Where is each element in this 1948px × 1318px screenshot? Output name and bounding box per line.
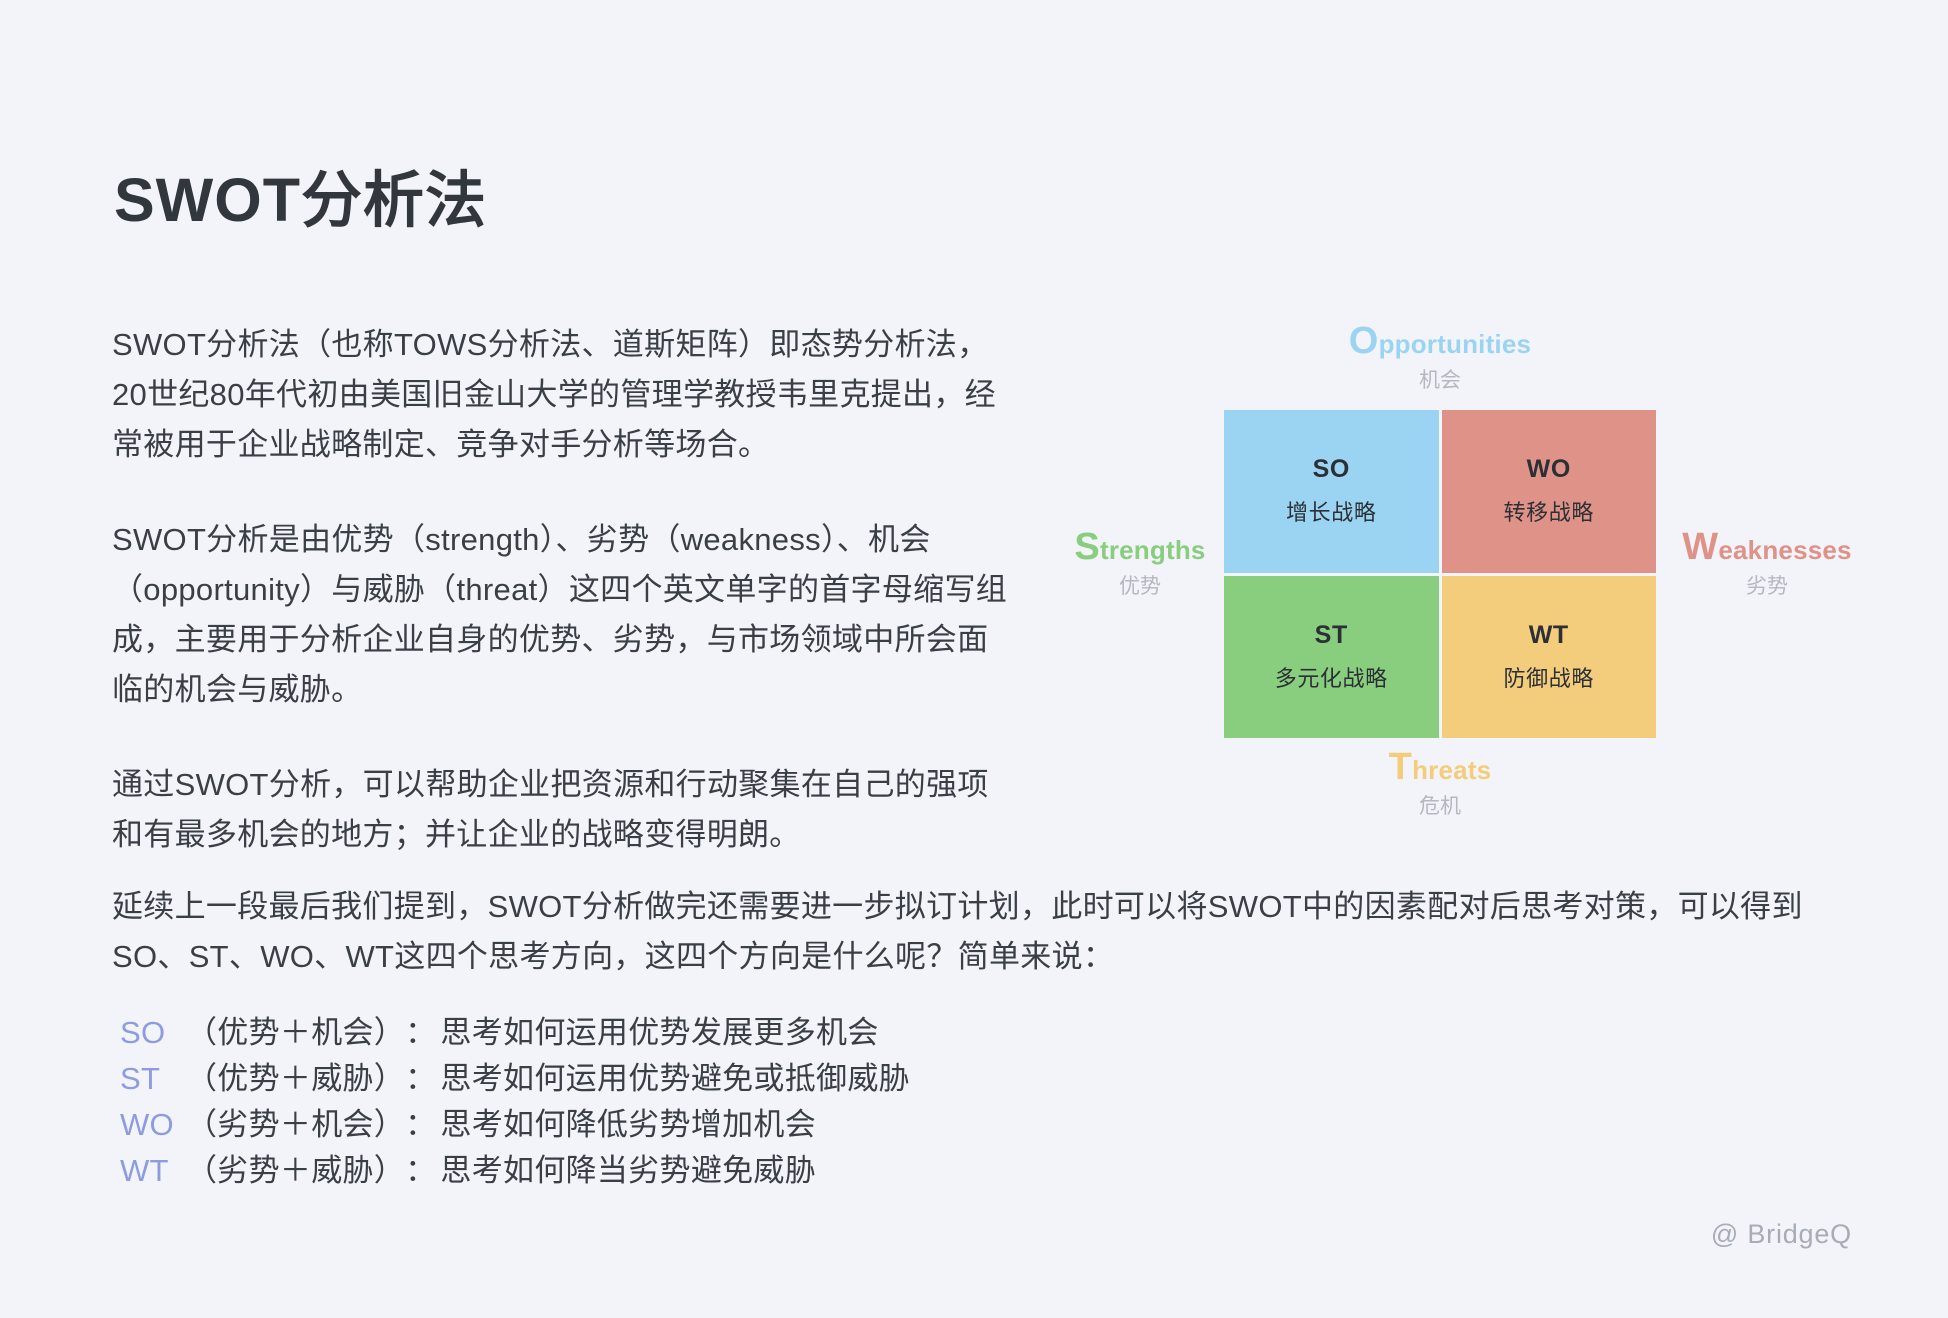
- axis-rest-threats: hreats: [1412, 755, 1491, 785]
- matrix-cell-wt-label: 防御战略: [1504, 661, 1594, 693]
- pair-combo-wt: （劣势＋威胁）: [186, 1148, 405, 1194]
- axis-rest-opportunities: pportunities: [1379, 329, 1532, 359]
- axis-label-threats: Threats 危机: [1295, 748, 1585, 820]
- paragraph-3: 通过SWOT分析，可以帮助企业把资源和行动聚集在自己的强项和有最多机会的地方；并…: [112, 760, 1012, 860]
- matrix-cell-st: ST 多元化战略: [1224, 576, 1439, 739]
- page-title: SWOT分析法: [114, 164, 487, 237]
- axis-rest-strengths: trengths: [1100, 535, 1206, 565]
- axis-initial-t: T: [1389, 746, 1412, 788]
- axis-label-opportunities-cn: 机会: [1295, 364, 1585, 394]
- matrix-cell-wt-code: WT: [1529, 621, 1569, 650]
- list-item: WT （劣势＋威胁） ： 思考如何降当劣势避免威胁: [120, 1148, 1220, 1194]
- matrix-cell-st-label: 多元化战略: [1275, 661, 1388, 693]
- pair-desc-wo: 思考如何降低劣势增加机会: [440, 1102, 816, 1148]
- axis-label-weaknesses-cn: 劣势: [1652, 570, 1882, 600]
- paragraph-1: SWOT分析法（也称TOWS分析法、道斯矩阵）即态势分析法，20世纪80年代初由…: [112, 320, 1012, 471]
- matrix-cell-so-label: 增长战略: [1286, 495, 1376, 527]
- pair-colon-wt: ：: [405, 1148, 436, 1194]
- matrix-cell-st-code: ST: [1315, 621, 1348, 650]
- list-item: ST （优势＋威胁） ： 思考如何运用优势避免或抵御威胁: [120, 1056, 1220, 1102]
- axis-label-threats-cn: 危机: [1295, 790, 1585, 820]
- axis-initial-o: O: [1349, 320, 1379, 362]
- axis-rest-weaknesses: eaknesses: [1718, 535, 1851, 565]
- axis-label-opportunities-en: Opportunities: [1295, 322, 1585, 360]
- pair-desc-st: 思考如何运用优势避免或抵御威胁: [440, 1056, 910, 1102]
- pair-desc-so: 思考如何运用优势发展更多机会: [440, 1010, 878, 1056]
- axis-label-weaknesses-en: Weaknesses: [1652, 528, 1882, 566]
- pair-colon-wo: ：: [405, 1102, 436, 1148]
- matrix-cell-wo: WO 转移战略: [1442, 410, 1657, 573]
- axis-label-strengths-en: Strengths: [1050, 528, 1230, 566]
- list-item: WO （劣势＋机会） ： 思考如何降低劣势增加机会: [120, 1102, 1220, 1148]
- matrix-cell-so: SO 增长战略: [1224, 410, 1439, 573]
- pair-desc-wt: 思考如何降当劣势避免威胁: [440, 1148, 816, 1194]
- axis-label-strengths-cn: 优势: [1050, 570, 1230, 600]
- pair-colon-so: ：: [405, 1010, 436, 1056]
- pair-code-st: ST: [120, 1056, 182, 1102]
- pair-code-wo: WO: [120, 1102, 182, 1148]
- matrix-cell-wt: WT 防御战略: [1442, 576, 1657, 739]
- axis-label-opportunities: Opportunities 机会: [1295, 322, 1585, 394]
- pair-combo-st: （优势＋威胁）: [186, 1056, 405, 1102]
- list-item: SO （优势＋机会） ： 思考如何运用优势发展更多机会: [120, 1010, 1220, 1056]
- axis-label-threats-en: Threats: [1295, 748, 1585, 786]
- watermark-bridgeq: @ BridgeQ: [1711, 1219, 1852, 1250]
- paragraph-wide: 延续上一段最后我们提到，SWOT分析做完还需要进一步拟订计划，此时可以将SWOT…: [112, 882, 1852, 982]
- pair-code-wt: WT: [120, 1148, 182, 1194]
- slide-canvas: SWOT分析法 SWOT分析法（也称TOWS分析法、道斯矩阵）即态势分析法，20…: [0, 0, 1948, 1318]
- pair-combo-so: （优势＋机会）: [186, 1010, 405, 1056]
- body-text-column: SWOT分析法（也称TOWS分析法、道斯矩阵）即态势分析法，20世纪80年代初由…: [112, 320, 1012, 904]
- matrix-cell-wo-code: WO: [1527, 455, 1571, 484]
- swot-matrix-figure: Opportunities 机会 Strengths 优势 Weaknesses…: [1200, 300, 1680, 820]
- pair-colon-st: ：: [405, 1056, 436, 1102]
- axis-label-weaknesses: Weaknesses 劣势: [1652, 528, 1882, 600]
- pair-combo-wo: （劣势＋机会）: [186, 1102, 405, 1148]
- matrix-cell-wo-label: 转移战略: [1504, 495, 1594, 527]
- paragraph-2: SWOT分析是由优势（strength）、劣势（weakness）、机会（opp…: [112, 515, 1012, 716]
- swot-matrix-grid: SO 增长战略 WO 转移战略 ST 多元化战略 WT 防御战略: [1224, 410, 1656, 738]
- axis-label-strengths: Strengths 优势: [1050, 528, 1230, 600]
- swot-pair-list: SO （优势＋机会） ： 思考如何运用优势发展更多机会 ST （优势＋威胁） ：…: [120, 1010, 1220, 1194]
- matrix-cell-so-code: SO: [1313, 455, 1350, 484]
- pair-code-so: SO: [120, 1010, 182, 1056]
- axis-initial-w: W: [1682, 526, 1718, 568]
- axis-initial-s: S: [1074, 526, 1100, 568]
